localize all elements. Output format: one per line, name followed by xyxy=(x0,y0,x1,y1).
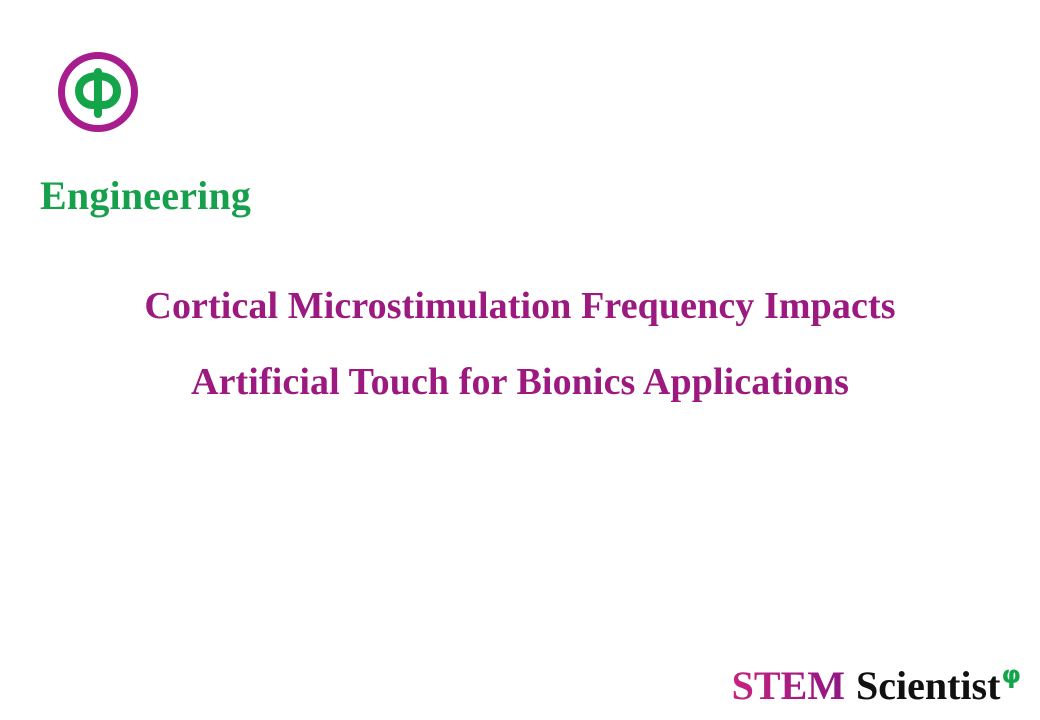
category-label: Engineering xyxy=(40,172,251,220)
article-title: Cortical Microstimulation Frequency Impa… xyxy=(0,268,1040,420)
brand-name-scientist: Scientist xyxy=(847,662,1000,710)
article-title-card: Engineering Cortical Microstimulation Fr… xyxy=(0,0,1040,720)
article-title-line-1: Cortical Microstimulation Frequency Impa… xyxy=(0,268,1040,344)
brand-phi-superscript-icon: φ xyxy=(1001,662,1021,687)
brand-footer: STEM Scientist φ xyxy=(732,662,1020,710)
brand-name-stem: STEM xyxy=(732,662,847,710)
article-title-line-2: Artificial Touch for Bionics Application… xyxy=(0,344,1040,420)
phi-circle-logo[interactable] xyxy=(57,51,139,133)
logo-phi-glyph xyxy=(79,72,117,114)
